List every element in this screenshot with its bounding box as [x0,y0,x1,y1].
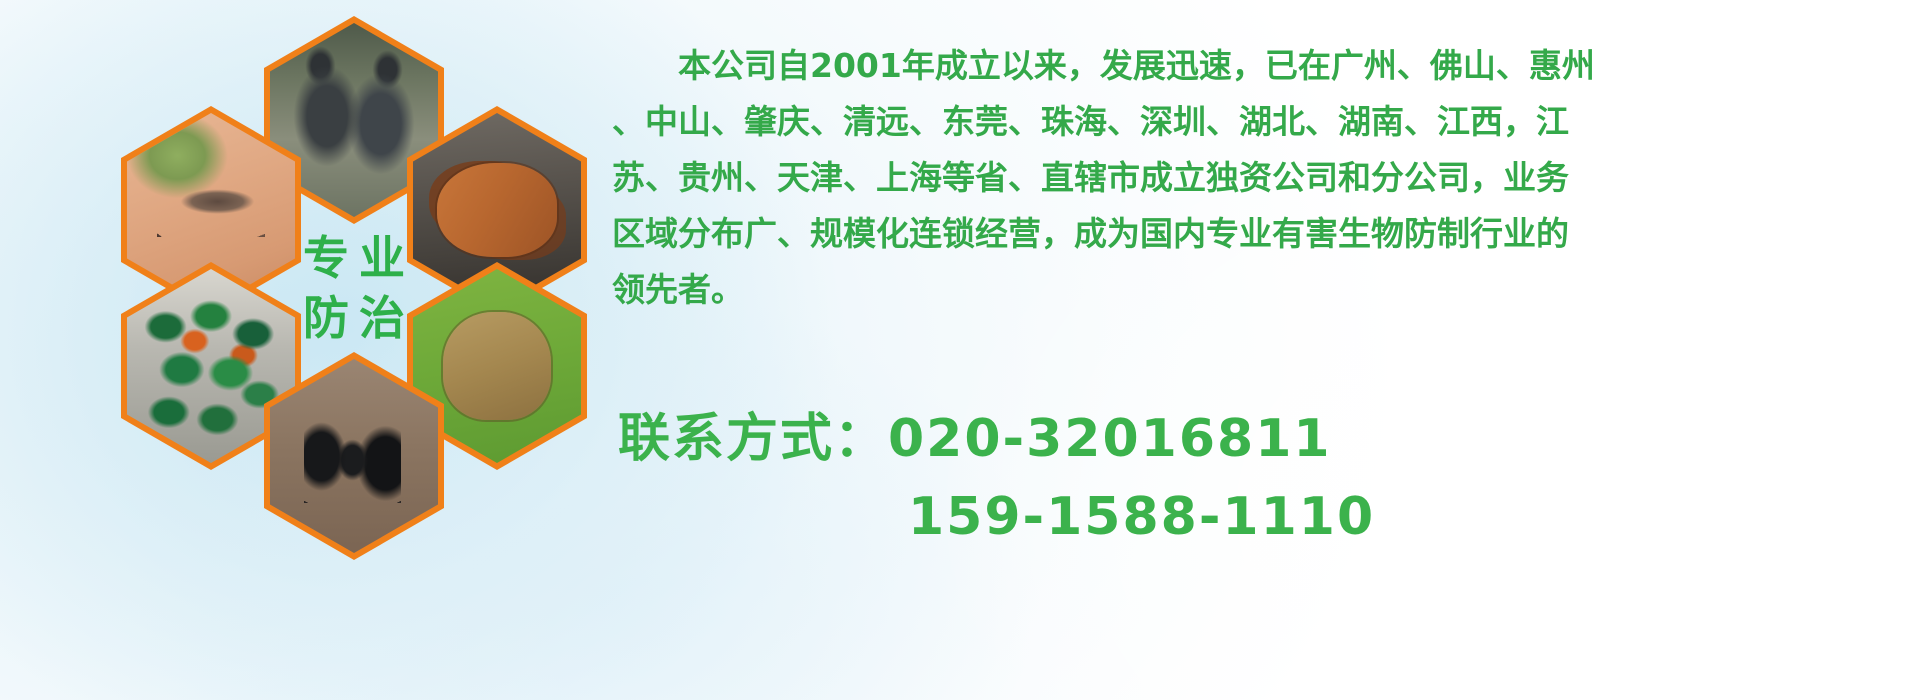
description-line-4: 区域分布广、规模化连锁经营，成为国内专业有害生物防制行业的 [612,206,1912,262]
logo-slogan: 专业 防治 [264,184,444,392]
hex-logo-cluster: 专业 防治 [86,10,586,570]
logo-slogan-line2: 防治 [293,295,415,341]
description-line-5: 领先者。 [612,262,1912,318]
description-line-2: 、中山、肇庆、清远、东莞、珠海、深圳、湖北、湖南、江西，江 [612,94,1912,150]
promo-banner: 专业 防治 本公司自2001年成立以来，发展迅速，已在广州、佛山、惠州 、中山、… [0,0,1920,700]
contact-primary[interactable]: 联系方式：020-32016811 [618,400,1918,478]
contact-block: 联系方式：020-32016811 159-1588-1110 [618,400,1918,556]
description-line-1: 本公司自2001年成立以来，发展迅速，已在广州、佛山、惠州 [612,38,1912,94]
description-line-3: 苏、贵州、天津、上海等省、直辖市成立独资公司和分公司，业务 [612,150,1912,206]
logo-slogan-line1: 专业 [293,235,415,281]
company-description: 本公司自2001年成立以来，发展迅速，已在广州、佛山、惠州 、中山、肇庆、清远、… [612,38,1912,318]
contact-secondary[interactable]: 159-1588-1110 [618,478,1918,556]
